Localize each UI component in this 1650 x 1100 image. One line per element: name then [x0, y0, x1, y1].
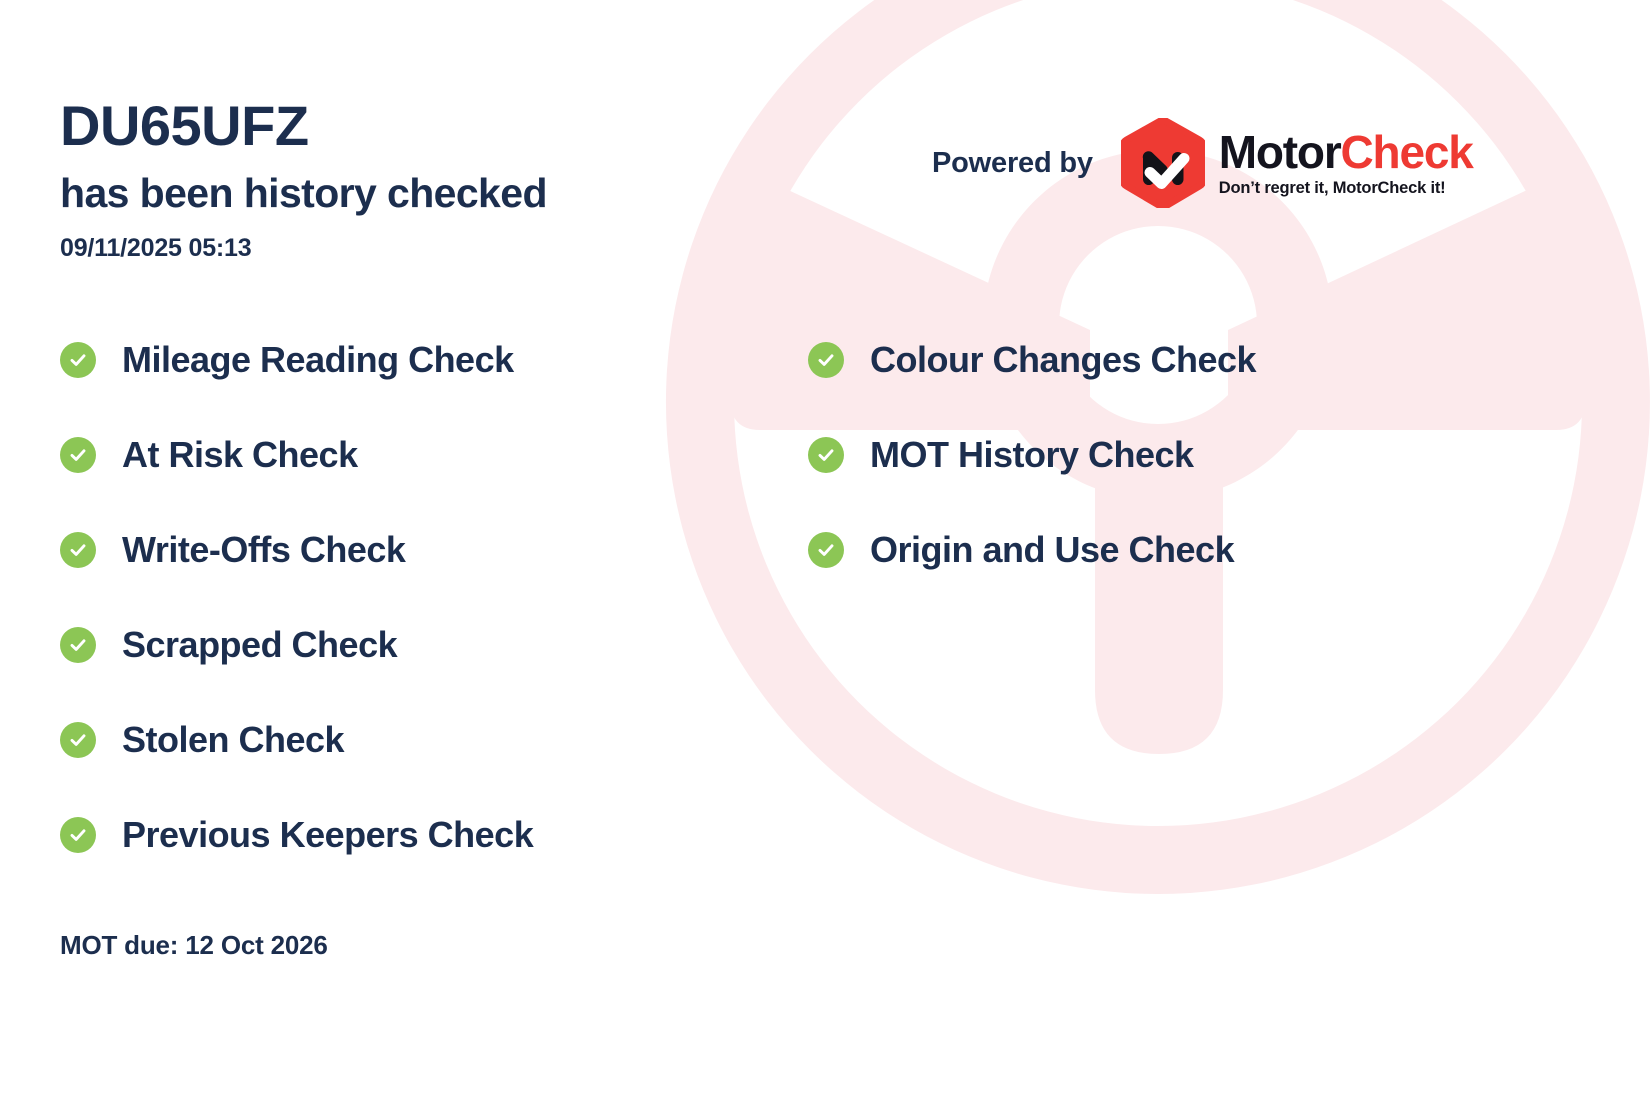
check-circle-icon [60, 627, 96, 663]
check-item-label: MOT History Check [870, 437, 1194, 473]
check-timestamp: 09/11/2025 05:13 [60, 234, 251, 263]
check-circle-icon [808, 532, 844, 568]
check-item-label: Stolen Check [122, 722, 344, 758]
motorcheck-tagline: Don’t regret it, MotorCheck it! [1219, 179, 1473, 198]
check-item: Previous Keepers Check [60, 787, 760, 882]
check-circle-icon [60, 722, 96, 758]
page-title: has been history checked [60, 172, 547, 215]
check-item: Stolen Check [60, 692, 760, 787]
checks-right-column: Colour Changes Check MOT History Check O… [808, 312, 1508, 597]
check-item: At Risk Check [60, 407, 760, 502]
wordmark-motor: Motor [1219, 126, 1341, 178]
check-circle-icon [60, 342, 96, 378]
check-item-label: Previous Keepers Check [122, 817, 533, 853]
check-circle-icon [808, 342, 844, 378]
check-circle-icon [60, 437, 96, 473]
mot-due-text: MOT due: 12 Oct 2026 [60, 930, 328, 961]
checks-left-column: Mileage Reading Check At Risk Check Writ… [60, 312, 760, 882]
wordmark-check: Check [1341, 126, 1473, 178]
check-item: Origin and Use Check [808, 502, 1508, 597]
check-item-label: Origin and Use Check [870, 532, 1234, 568]
check-item-label: Write-Offs Check [122, 532, 405, 568]
check-item: Colour Changes Check [808, 312, 1508, 407]
check-circle-icon [808, 437, 844, 473]
motorcheck-hexagon-icon [1121, 118, 1205, 208]
motorcheck-wordmark-line: MotorCheck [1219, 129, 1473, 175]
check-item: MOT History Check [808, 407, 1508, 502]
check-item-label: Scrapped Check [122, 627, 397, 663]
registration-number: DU65UFZ [60, 98, 309, 154]
powered-by-label: Powered by [932, 147, 1093, 180]
check-item-label: Mileage Reading Check [122, 342, 514, 378]
check-item: Write-Offs Check [60, 502, 760, 597]
check-item: Mileage Reading Check [60, 312, 760, 407]
check-circle-icon [60, 817, 96, 853]
powered-by-row: Powered by MotorCheck Don’t regret it, M… [932, 118, 1473, 208]
check-circle-icon [60, 532, 96, 568]
motorcheck-wordmark: MotorCheck Don’t regret it, MotorCheck i… [1219, 129, 1473, 198]
motorcheck-logo[interactable]: MotorCheck Don’t regret it, MotorCheck i… [1121, 118, 1473, 208]
check-item-label: At Risk Check [122, 437, 358, 473]
check-item: Scrapped Check [60, 597, 760, 692]
check-item-label: Colour Changes Check [870, 342, 1256, 378]
